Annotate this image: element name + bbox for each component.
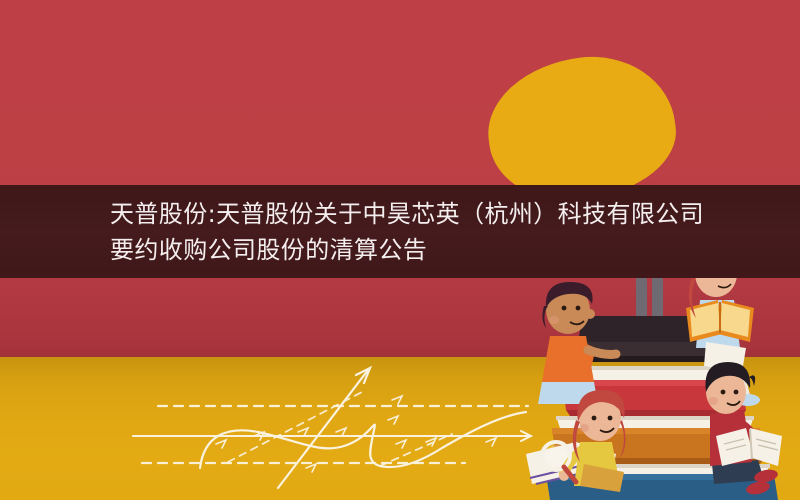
- thumbnail-canvas: 天普股份:天普股份关于中昊芯英（杭州）科技有限公司要约收购公司股份的清算公告: [0, 0, 800, 500]
- math-graph-line-art: [130, 358, 540, 500]
- character-boy-red-reading: [705, 362, 782, 496]
- page-title: 天普股份:天普股份关于中昊芯英（杭州）科技有限公司要约收购公司股份的清算公告: [110, 196, 710, 268]
